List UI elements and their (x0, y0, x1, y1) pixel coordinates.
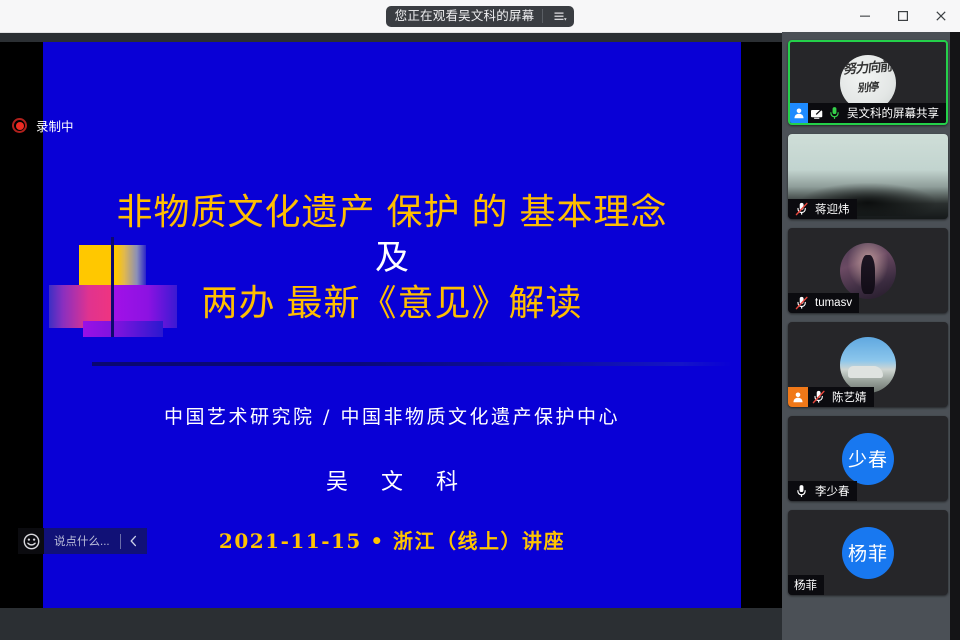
chat-input-placeholder: 说点什么... (54, 533, 120, 549)
zoom-meeting-window: 您正在观看吴文科的屏幕 (0, 0, 960, 640)
avatar: 少春 (842, 433, 894, 485)
participant-tile[interactable]: 努力向前 别停 (788, 40, 948, 125)
chevron-left-icon[interactable] (121, 528, 147, 554)
slide-organization: 中国艺术研究院 / 中国非物质文化遗产保护中心 (43, 402, 741, 429)
window-title-bar: 您正在观看吴文科的屏幕 (0, 0, 960, 33)
tile-name: 陈艺婧 (832, 389, 867, 405)
avatar: 杨菲 (842, 527, 894, 579)
tile-label: 蒋迎炜 (788, 199, 857, 219)
microphone-muted-icon (793, 293, 810, 313)
tile-name: tumasv (815, 297, 852, 309)
person-badge-icon (790, 103, 808, 123)
slide-title-line2: 及 (43, 238, 741, 278)
tile-name: 杨菲 (794, 577, 817, 593)
maximize-icon[interactable] (884, 0, 922, 32)
screen-share-notice-pill[interactable]: 您正在观看吴文科的屏幕 (386, 6, 575, 27)
avatar (840, 337, 896, 393)
participant-tile[interactable]: tumasv (788, 228, 948, 313)
record-dot-icon (12, 118, 27, 133)
calligraphy-line1: 努力向前 (840, 60, 896, 78)
microphone-icon (793, 481, 810, 501)
tile-label: 吴文科的屏幕共享 (790, 103, 946, 123)
microphone-icon (827, 103, 842, 123)
participant-tile[interactable]: 蒋迎炜 (788, 134, 948, 219)
person-badge-icon (788, 387, 808, 407)
share-notice-label: 您正在观看吴文科的屏幕 (395, 6, 535, 27)
menu-caret-icon[interactable] (551, 7, 570, 26)
slide-text-block: 非物质文化遗产 保护 的 基本理念 及 两办 最新《意见》解读 中国艺术研究院 … (43, 42, 741, 608)
participant-tile-list: 努力向前 别停 (788, 40, 950, 604)
window-controls (846, 0, 960, 32)
recording-label: 录制中 (36, 116, 74, 135)
tile-label: 陈艺婧 (788, 387, 874, 407)
photo-car-avatar (840, 337, 896, 393)
tile-label: 杨菲 (788, 575, 824, 595)
screen-share-icon (810, 103, 825, 123)
participant-tile[interactable]: 少春 李少春 (788, 416, 948, 501)
minimize-icon[interactable] (846, 0, 884, 32)
pill-divider (542, 9, 543, 23)
participant-tile[interactable]: 陈艺婧 (788, 322, 948, 407)
chat-composer[interactable]: 说点什么... (18, 528, 147, 554)
photo-room-avatar (840, 243, 896, 299)
slide-title-line3: 两办 最新《意见》解读 (43, 282, 741, 324)
tile-name: 吴文科的屏幕共享 (847, 105, 939, 121)
slide-date-venue: 2021-11-15 • 浙江（线上）讲座 (43, 525, 741, 554)
participant-panel: 努力向前 别停 (782, 32, 960, 640)
participant-tile[interactable]: 杨菲 杨菲 (788, 510, 948, 595)
shared-screen-stage[interactable]: 非物质文化遗产 保护 的 基本理念 及 两办 最新《意见》解读 中国艺术研究院 … (0, 42, 782, 608)
calligraphy-line2: 别停 (840, 79, 896, 97)
chat-input[interactable]: 说点什么... (44, 528, 147, 554)
slide-title-line1: 非物质文化遗产 保护 的 基本理念 (43, 191, 741, 233)
tile-name: 蒋迎炜 (815, 201, 850, 217)
slide-presenter: 吴 文 科 (43, 464, 741, 496)
close-icon[interactable] (922, 0, 960, 32)
tile-label: 李少春 (788, 481, 857, 501)
panel-scroll-gutter[interactable] (950, 32, 960, 640)
tile-name: 李少春 (815, 483, 850, 499)
emoji-smiley-icon[interactable] (18, 528, 44, 554)
microphone-muted-icon (793, 199, 810, 219)
recording-indicator: 录制中 (12, 116, 74, 135)
presentation-slide: 非物质文化遗产 保护 的 基本理念 及 两办 最新《意见》解读 中国艺术研究院 … (43, 42, 741, 608)
microphone-muted-icon (810, 387, 827, 407)
avatar (840, 243, 896, 299)
tile-label: tumasv (788, 293, 859, 313)
